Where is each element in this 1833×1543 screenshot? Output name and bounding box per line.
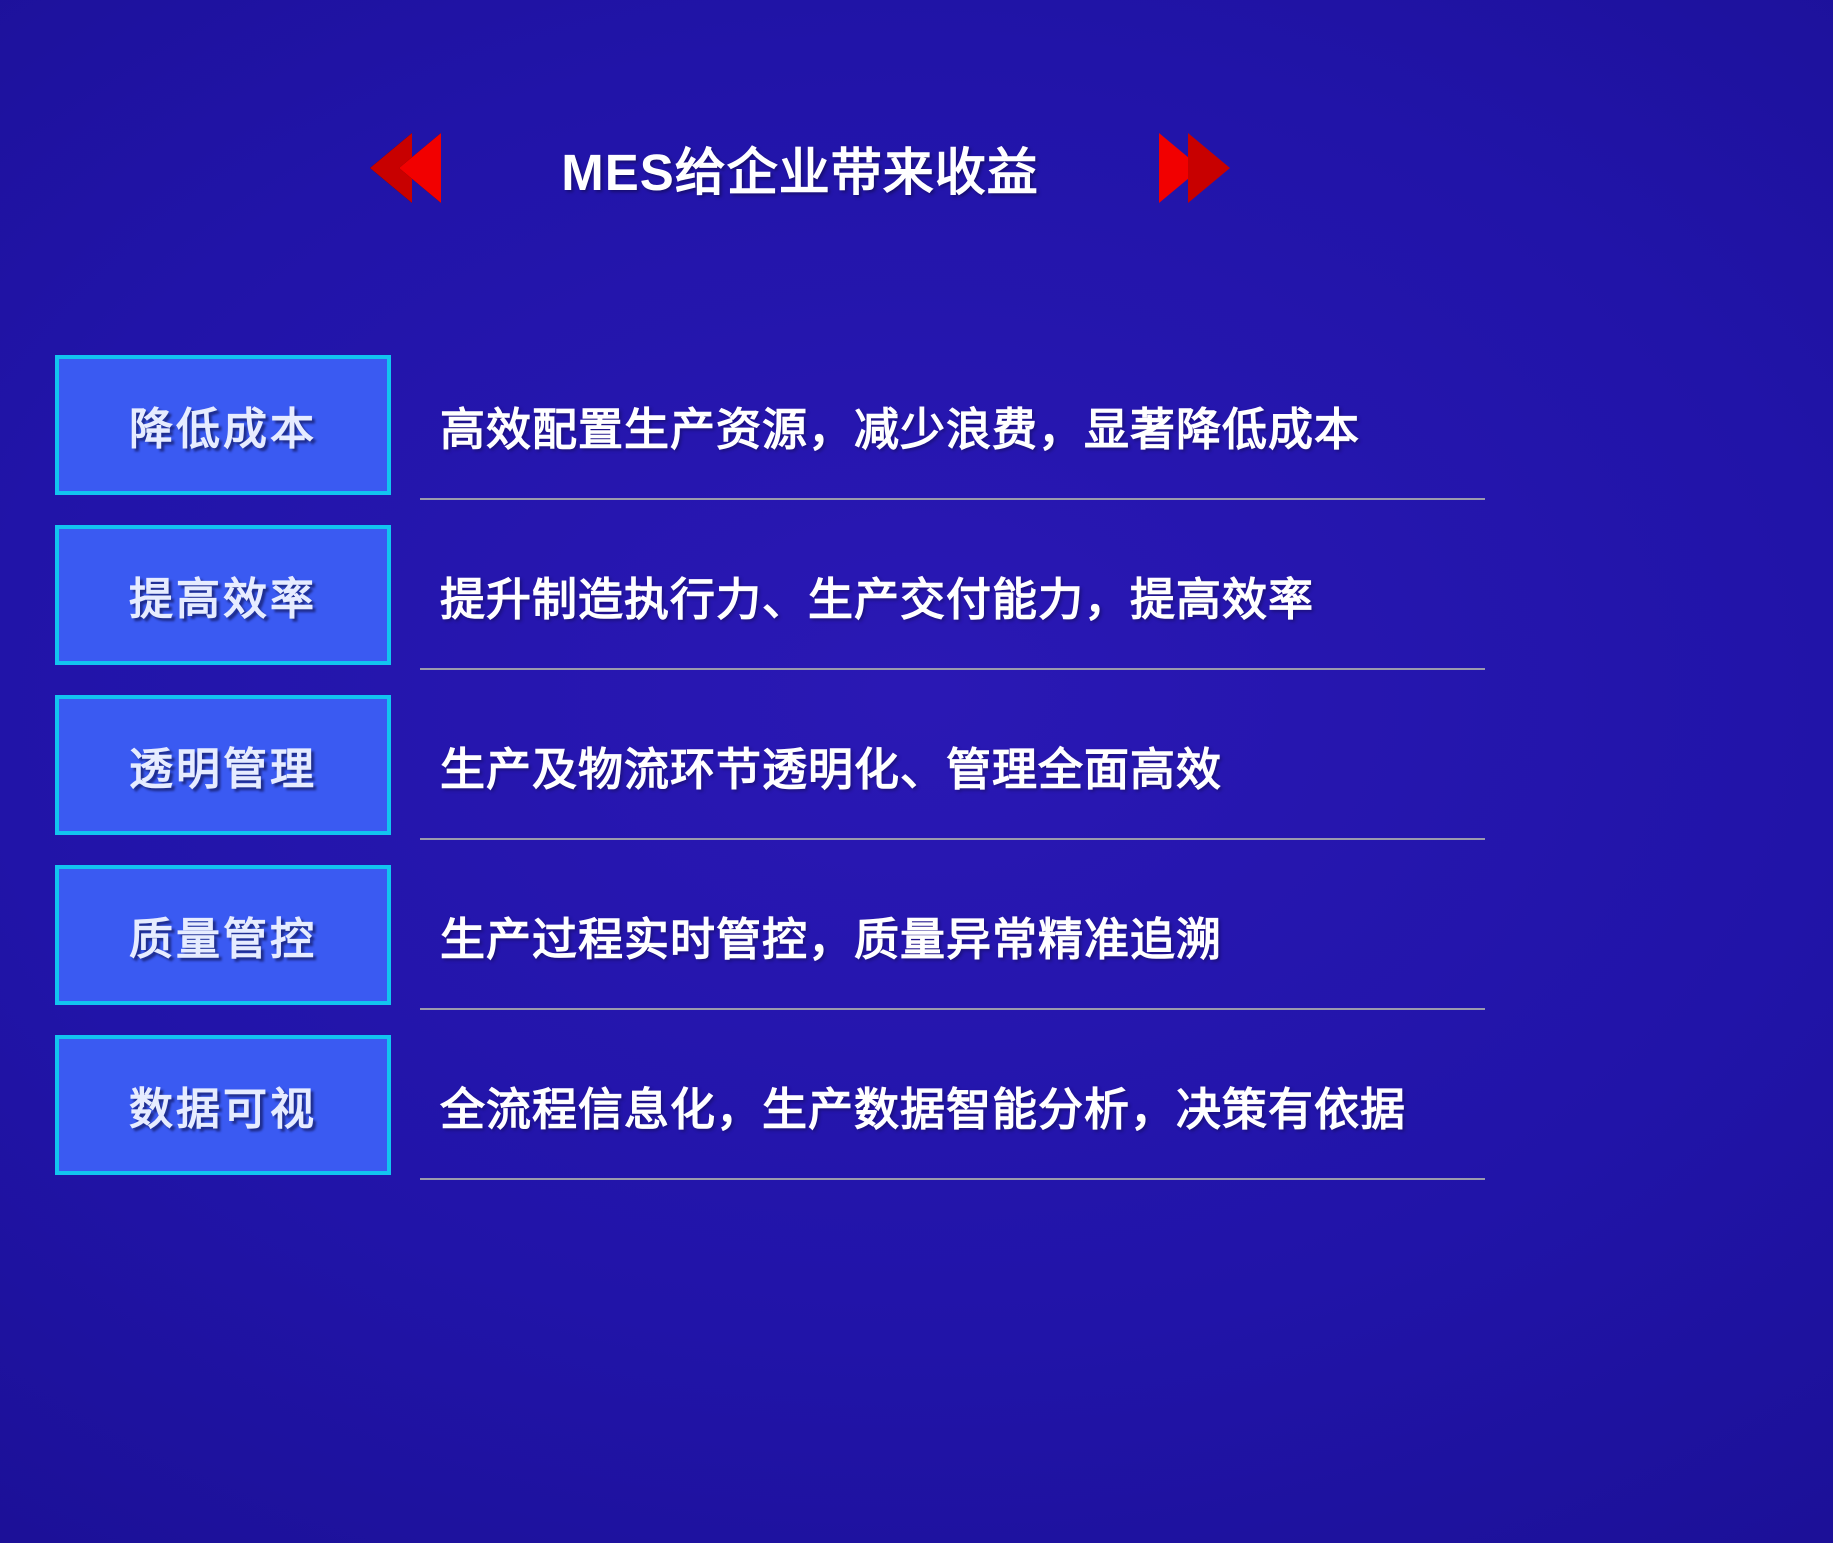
benefit-tag-label: 降低成本: [129, 393, 317, 457]
benefit-desc-3: 生产及物流环节透明化、管理全面高效: [440, 695, 1485, 835]
benefit-desc-text: 高效配置生产资源，减少浪费，显著降低成本: [440, 393, 1360, 458]
double-chevron-right-icon: [1159, 133, 1230, 203]
benefit-tag-4[interactable]: 质量管控: [55, 865, 391, 1005]
row-divider: [420, 498, 1485, 500]
benefit-tag-3[interactable]: 透明管理: [55, 695, 391, 835]
benefit-row: 提高效率 提升制造执行力、生产交付能力，提高效率: [55, 525, 1485, 695]
benefit-tag-label: 透明管理: [129, 733, 317, 797]
chevron-left-inner: [399, 133, 441, 203]
benefit-tag-1[interactable]: 降低成本: [55, 355, 391, 495]
benefit-desc-2: 提升制造执行力、生产交付能力，提高效率: [440, 525, 1485, 665]
benefit-desc-text: 生产及物流环节透明化、管理全面高效: [440, 733, 1222, 798]
page-title: MES给企业带来收益: [561, 131, 1039, 205]
chevron-right-outer: [1188, 133, 1230, 203]
slide-root: MES给企业带来收益 降低成本 高效配置生产资源，减少浪费，显著降低成本 提高效…: [0, 0, 1833, 1543]
benefit-desc-text: 全流程信息化，生产数据智能分析，决策有依据: [440, 1073, 1406, 1138]
benefit-row: 透明管理 生产及物流环节透明化、管理全面高效: [55, 695, 1485, 865]
slide-header: MES给企业带来收益: [0, 120, 1600, 215]
benefit-tag-label: 质量管控: [129, 903, 317, 967]
benefit-desc-text: 生产过程实时管控，质量异常精准追溯: [440, 903, 1222, 968]
benefit-row: 降低成本 高效配置生产资源，减少浪费，显著降低成本: [55, 355, 1485, 525]
row-divider: [420, 1178, 1485, 1180]
benefits-list: 降低成本 高效配置生产资源，减少浪费，显著降低成本 提高效率 提升制造执行力、生…: [55, 355, 1485, 1205]
benefit-tag-label: 数据可视: [129, 1073, 317, 1137]
row-divider: [420, 668, 1485, 670]
row-divider: [420, 1008, 1485, 1010]
benefit-desc-5: 全流程信息化，生产数据智能分析，决策有依据: [440, 1035, 1485, 1175]
benefit-tag-label: 提高效率: [129, 563, 317, 627]
benefit-tag-2[interactable]: 提高效率: [55, 525, 391, 665]
benefit-row: 数据可视 全流程信息化，生产数据智能分析，决策有依据: [55, 1035, 1485, 1205]
double-chevron-left-icon: [370, 133, 441, 203]
row-divider: [420, 838, 1485, 840]
benefit-tag-5[interactable]: 数据可视: [55, 1035, 391, 1175]
benefit-desc-text: 提升制造执行力、生产交付能力，提高效率: [440, 563, 1314, 628]
benefit-desc-1: 高效配置生产资源，减少浪费，显著降低成本: [440, 355, 1485, 495]
benefit-desc-4: 生产过程实时管控，质量异常精准追溯: [440, 865, 1485, 1005]
benefit-row: 质量管控 生产过程实时管控，质量异常精准追溯: [55, 865, 1485, 1035]
